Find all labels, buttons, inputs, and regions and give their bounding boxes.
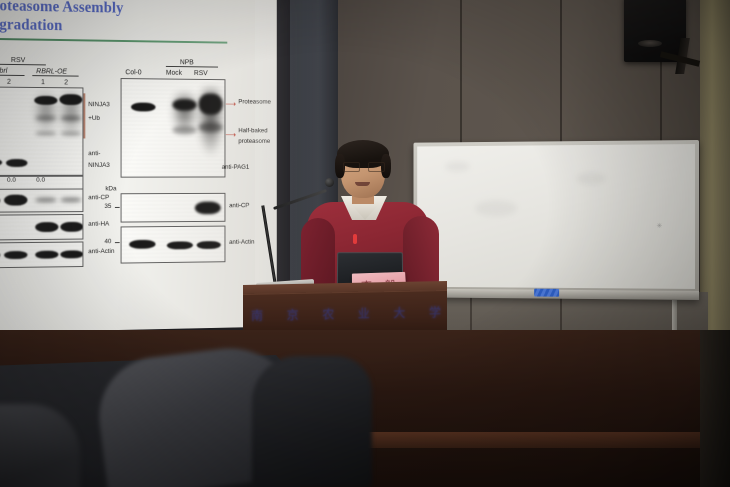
podium-char-5: 大 xyxy=(393,304,405,321)
lane-number-0: 2 xyxy=(7,77,11,86)
presenter-mouth xyxy=(355,182,370,186)
sample-mock: Mock xyxy=(166,68,182,77)
gel-right-anti-cp xyxy=(121,193,226,223)
gel-pag1-native xyxy=(121,78,226,178)
projected-slide: s 26S Proteasome Assembly lown Degradati… xyxy=(0,0,277,334)
quant-value-2: 0.0 xyxy=(36,177,45,184)
sample-rsv: RSV xyxy=(194,68,208,77)
podium-char-2: 京 xyxy=(287,306,299,323)
whiteboard-surface: ✳ xyxy=(417,144,695,289)
label-ub: +Ub xyxy=(88,115,100,122)
gel-ninja3 xyxy=(0,86,83,175)
slide-title-line2: lown Degradation xyxy=(0,15,260,39)
sample-col0: Col-0 xyxy=(125,67,141,76)
mw-marker-35: 35 xyxy=(104,203,111,210)
speaker-cone-icon xyxy=(638,40,662,47)
podium-char-3: 农 xyxy=(322,305,334,322)
gel-left-anti-cp xyxy=(0,189,83,213)
genotype-rule-1 xyxy=(0,75,25,76)
left-panel-group-header: RSV xyxy=(11,55,25,64)
gel-right-anti-actin xyxy=(121,226,226,264)
mw-marker-40: 40 xyxy=(104,238,111,245)
wall-right-edge xyxy=(700,0,730,340)
podium-char-1: 南 xyxy=(251,307,263,324)
presenter-lapel-pin xyxy=(353,234,357,244)
lane-number-2: 2 xyxy=(64,77,68,86)
podium-char-4: 业 xyxy=(358,305,370,322)
genotype-rule-2 xyxy=(32,75,78,77)
label-left-anti-actin: anti-Actin xyxy=(88,248,114,255)
label-anti-ninja3: NINJA3 xyxy=(88,162,110,169)
label-right-anti-actin: anti-Actin xyxy=(229,239,254,246)
label-right-anti-cp: anti-CP xyxy=(229,202,249,209)
left-genotype-1: rbrl xyxy=(0,66,7,75)
whiteboard-eraser[interactable] xyxy=(534,289,559,297)
label-kda: kDa xyxy=(105,185,116,192)
foreground-seat xyxy=(252,356,372,487)
gel-left-anti-ha xyxy=(0,214,83,241)
right-panel-group-header: NPB xyxy=(180,57,194,66)
left-genotype-2: RBRL-OE xyxy=(36,66,67,75)
lane-number-1: 1 xyxy=(41,77,45,86)
slide-title-line1: s 26S Proteasome Assembly xyxy=(0,0,123,17)
slide-divider xyxy=(0,37,227,44)
whiteboard-mark: ✳ xyxy=(656,222,662,230)
podium-char-6: 学 xyxy=(429,303,441,320)
wall-speaker-box xyxy=(624,0,686,62)
mw-tick-40 xyxy=(115,242,120,243)
quant-value-1: 0.0 xyxy=(7,177,16,184)
podium-banner-text: 南 京 农 业 大 学 xyxy=(251,303,441,324)
arrow-proteasome-icon: ⟶ xyxy=(225,100,236,108)
arrow-halfbaked-icon: ⟶ xyxy=(225,131,236,139)
mw-tick-35 xyxy=(115,207,120,208)
label-anti-prefix: anti- xyxy=(88,150,100,157)
presenter-glasses-icon xyxy=(343,162,383,171)
label-left-anti-cp: anti-CP xyxy=(88,194,109,201)
label-anti-pag1: anti-PAG1 xyxy=(222,164,250,171)
microphone-head-icon xyxy=(325,178,334,187)
ninja3-brace xyxy=(83,93,85,138)
slide-title: s 26S Proteasome Assembly lown Degradati… xyxy=(0,0,260,39)
label-left-anti-ha: anti-HA xyxy=(88,221,109,228)
label-ninja3: NINJA3 xyxy=(88,101,110,108)
lecture-hall-photo: s 26S Proteasome Assembly lown Degradati… xyxy=(0,0,730,487)
whiteboard: ✳ xyxy=(413,140,699,300)
gel-left-anti-actin xyxy=(0,241,83,268)
right-edge-shadow xyxy=(700,330,730,487)
